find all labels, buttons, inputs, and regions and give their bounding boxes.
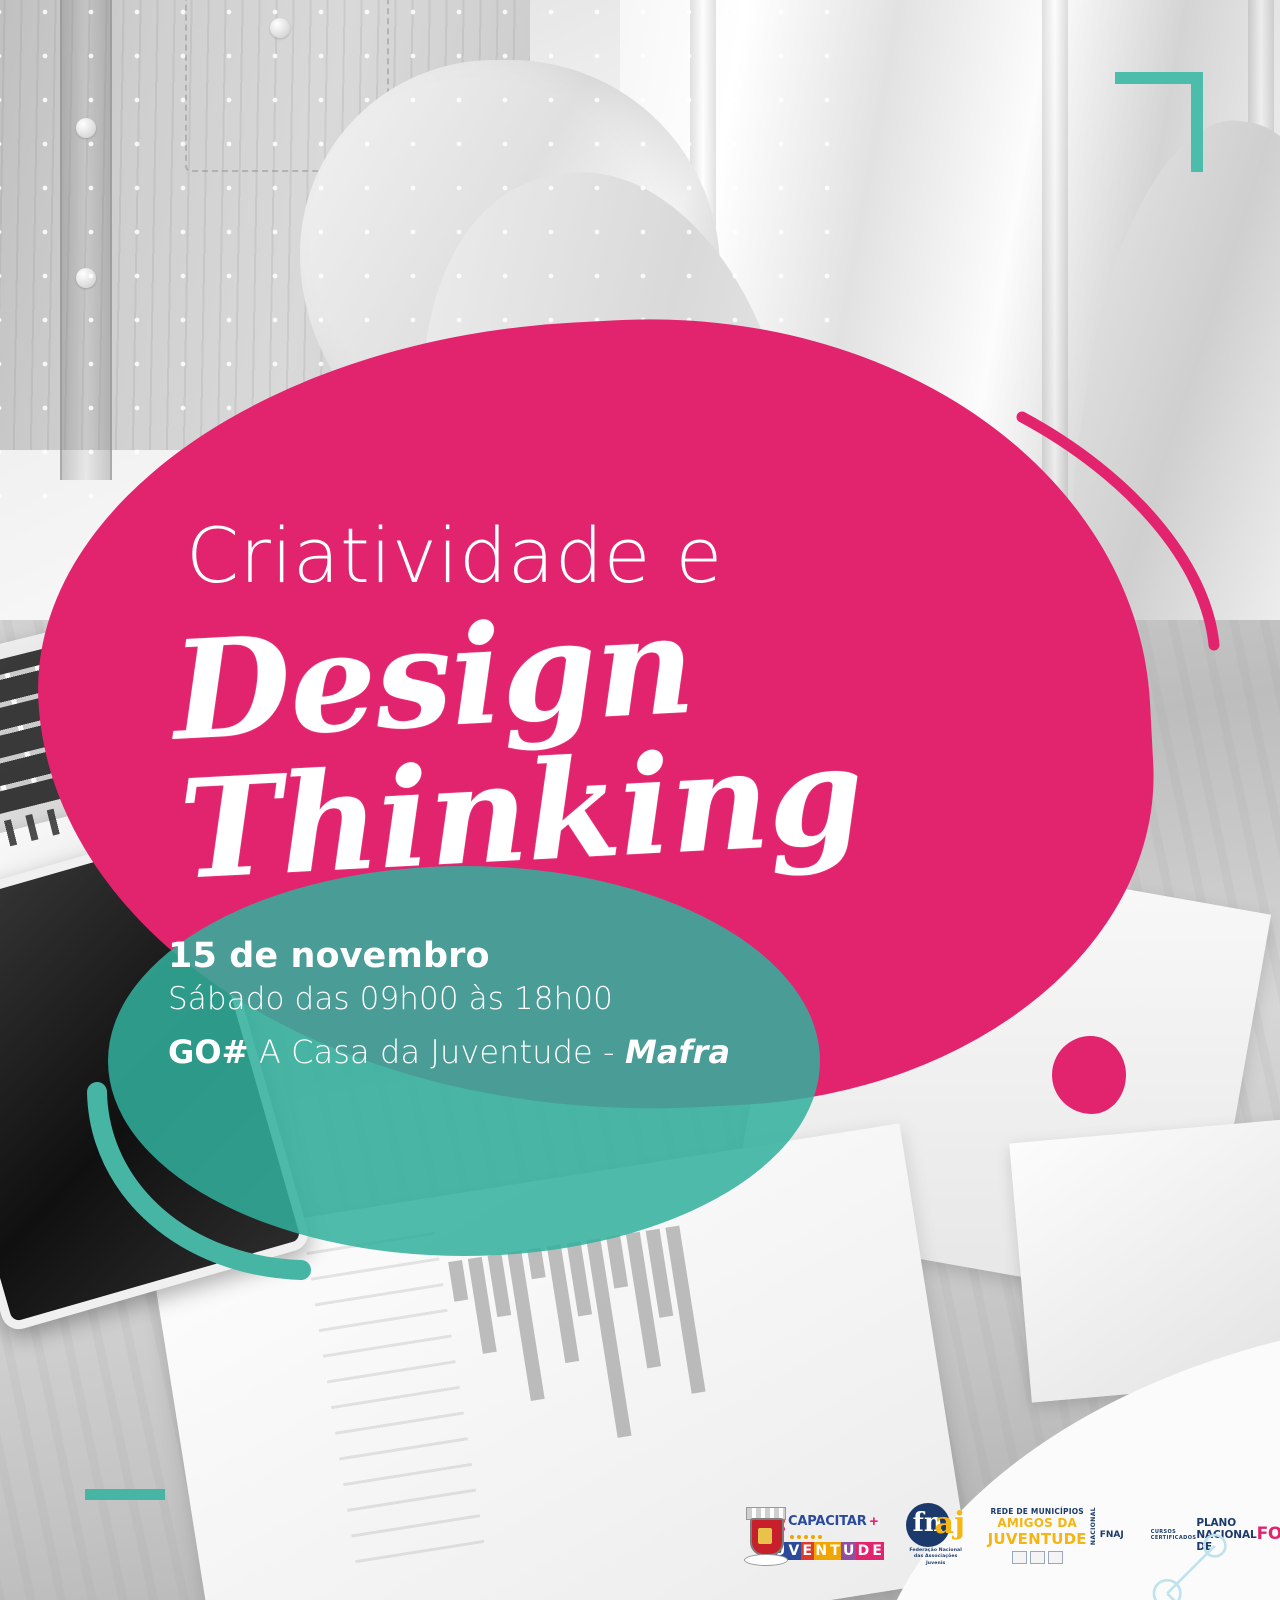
capacitar-plus-icon: +: [870, 1513, 879, 1530]
venue-name: A Casa da Juventude -: [249, 1033, 625, 1071]
event-hours: Sábado das 09h00 às 18h00: [168, 979, 888, 1021]
teal-arc-decoration: [55, 1070, 345, 1300]
amigos-line1: REDE DE MUNICÍPIOS: [991, 1507, 1084, 1516]
plano-line1: PLANO NACIONAL DE: [1196, 1517, 1256, 1553]
paper-bar-chart: [448, 1222, 752, 1559]
fnaj-aj-text: aj: [935, 1509, 965, 1539]
amigos-mini-badges-icon: [1012, 1551, 1063, 1564]
amigos-nacional-text: NACIONAL: [1090, 1507, 1097, 1545]
fnaj-mark-icon: fn aj: [906, 1503, 966, 1547]
poster-root: Criatividade e Design Thinking 15 de nov…: [0, 0, 1280, 1600]
fnaj-logo: fn aj Federação Nacional das Associações…: [906, 1503, 966, 1567]
amigos-fnaj-text: FNAJ: [1100, 1530, 1124, 1540]
amigos-line3: JUVENTUDE: [988, 1530, 1087, 1548]
pink-dot-decoration: [1052, 1036, 1126, 1114]
amigos-line2: AMIGOS DA: [997, 1516, 1077, 1530]
partner-logo-strip: CAPACITAR + JUVENTUDE fn aj Federação Na…: [742, 1492, 1242, 1578]
event-venue: GO# A Casa da Juventude - Mafra: [168, 1031, 888, 1074]
script-title: Design Thinking: [169, 573, 1132, 900]
venue-prefix: GO#: [168, 1033, 249, 1071]
rede-municipios-amigos-juventude-logo: REDE DE MUNICÍPIOS AMIGOS DA JUVENTUDE N…: [988, 1507, 1124, 1564]
capacitar-word: CAPACITAR: [788, 1514, 867, 1529]
venue-city: Mafra: [625, 1033, 730, 1071]
plano-line2: FORMAÇÃO: [1257, 1526, 1280, 1543]
fnaj-subtitle: Federação Nacional das Associações Juven…: [906, 1548, 966, 1567]
event-info-block: 15 de novembro Sábado das 09h00 às 18h00…: [168, 934, 888, 1074]
teal-corner-bracket-icon: [1115, 72, 1203, 172]
plano-cursos-certificados: CURSOS CERTIFICADOS: [1151, 1529, 1197, 1541]
capacitar-mini-dots-icon: [790, 1535, 822, 1539]
event-date: 15 de novembro: [168, 934, 888, 979]
page-title: Criatividade e: [186, 518, 723, 594]
teal-dash-decoration: [85, 1489, 165, 1500]
plano-nacional-formacao-logo: CURSOS CERTIFICADOS PLANO NACIONAL DE FO…: [1146, 1514, 1280, 1556]
